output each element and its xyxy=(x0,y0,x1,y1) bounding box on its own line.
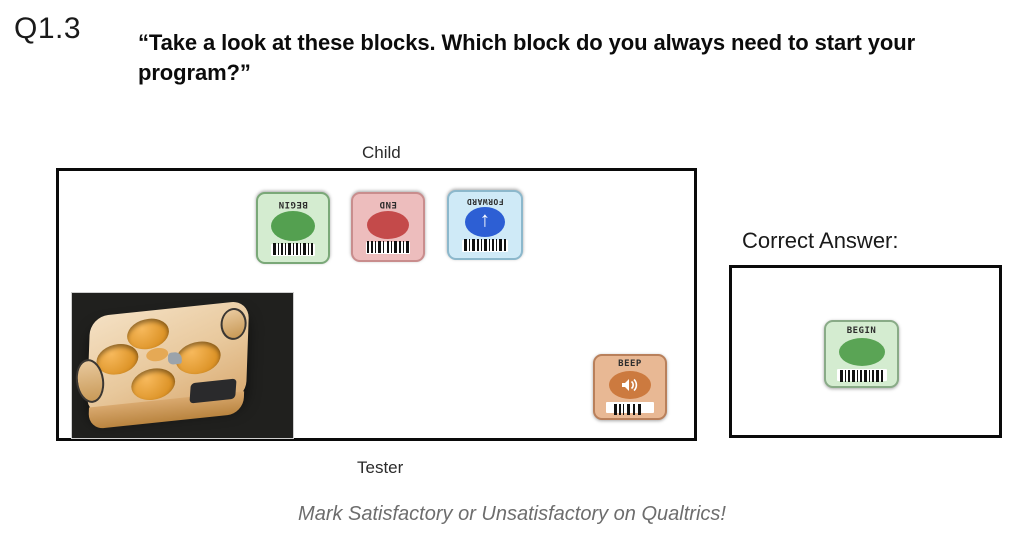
speaker-icon xyxy=(609,371,651,399)
tester-area-label: Tester xyxy=(357,458,403,478)
robot-sensor-icon xyxy=(168,351,182,365)
robot-slot-icon xyxy=(175,339,221,376)
footer-instruction: Mark Satisfactory or Unsatisfactory on Q… xyxy=(0,503,1024,526)
block-beep-label: BEEP xyxy=(618,360,642,369)
question-prompt: “Take a look at these blocks. Which bloc… xyxy=(138,28,968,88)
arrow-down-glyph: ↓ xyxy=(480,212,491,233)
block-end[interactable]: END xyxy=(351,192,425,262)
correct-answer-block-begin[interactable]: BEGIN xyxy=(824,320,899,388)
robot-small-slot-icon xyxy=(146,347,168,362)
robot-slot-icon xyxy=(131,366,176,402)
block-beep[interactable]: BEEP xyxy=(593,354,667,420)
speaker-glyph xyxy=(620,377,640,393)
block-begin[interactable]: BEGIN xyxy=(256,192,330,264)
robot-photo xyxy=(71,292,294,439)
red-circle-icon xyxy=(367,211,409,239)
barcode-icon xyxy=(606,402,654,413)
correct-answer-label: Correct Answer: xyxy=(742,228,899,254)
block-end-label: END xyxy=(379,199,397,208)
green-circle-icon xyxy=(271,211,315,241)
barcode-icon xyxy=(462,240,508,252)
barcode-icon xyxy=(837,369,887,381)
robot-slot-icon xyxy=(96,342,139,377)
child-area-label: Child xyxy=(362,143,401,163)
robot-wheel-icon xyxy=(218,304,249,343)
correct-answer-block-label: BEGIN xyxy=(847,327,877,336)
block-forward-label: FORWARD xyxy=(466,197,503,205)
arrow-down-icon: ↓ xyxy=(465,207,505,237)
question-number: Q1.3 xyxy=(14,12,81,46)
block-forward[interactable]: ↓ FORWARD xyxy=(447,190,523,260)
block-begin-label: BEGIN xyxy=(278,199,308,208)
barcode-icon xyxy=(366,242,410,254)
robot-slot-icon xyxy=(127,317,170,352)
green-circle-icon xyxy=(839,338,885,366)
barcode-icon xyxy=(271,244,315,256)
